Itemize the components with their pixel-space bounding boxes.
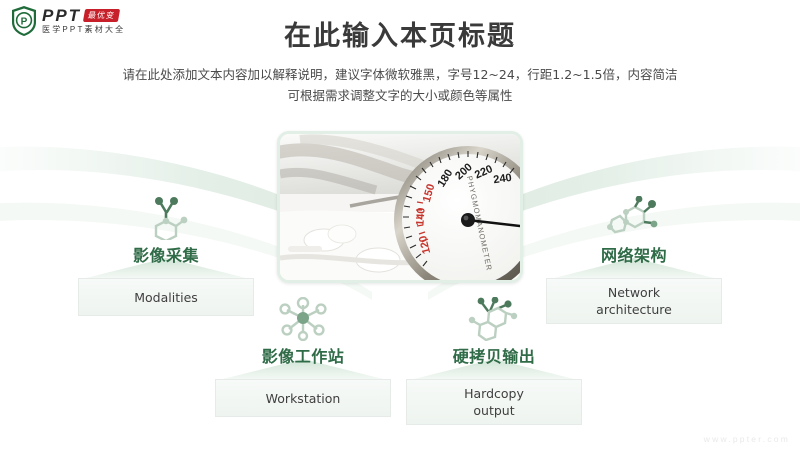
card-network-en-label-2: architecture [596,301,672,318]
card-modalities-en-label: Modalities [134,289,198,306]
slide-canvas: P PPT 最优变 医学PPT素材大全 在此输入本页标题 请在此处添加文本内容加… [0,0,800,450]
card-network-en-label: Network [596,284,672,301]
center-photo: 180 200 220 240 150 140 120 PHYGMOMA [277,131,523,283]
card-hardcopy-box[interactable]: Hardcopy output [406,379,582,425]
molecule-network-icon [606,196,662,245]
molecule-icon [143,196,189,245]
card-workstation-cn-label: 影像工作站 [215,343,391,367]
molecule-chain-icon [468,297,520,346]
hub-node-icon [277,297,329,346]
page-subtitle: 请在此处添加文本内容加以解释说明，建议字体微软雅黑，字号12~24，行距1.2~… [0,64,800,106]
card-hardcopy-cn-label: 硬拷贝输出 [406,343,582,367]
page-subtitle-line-2: 可根据需求调整文字的大小或颜色等属性 [0,85,800,106]
page-subtitle-line-1: 请在此处添加文本内容加以解释说明，建议字体微软雅黑，字号12~24，行距1.2~… [0,64,800,85]
card-hardcopy-en-label: Hardcopy [464,385,524,402]
card-network-cn-label: 网络架构 [546,242,722,266]
page-title: 在此输入本页标题 [0,14,800,53]
card-modalities-box[interactable]: Modalities [78,278,254,316]
card-modalities-cn-label: 影像采集 [78,242,254,266]
svg-text:240: 240 [493,172,513,186]
card-workstation-box[interactable]: Workstation [215,379,391,417]
card-network-box[interactable]: Network architecture [546,278,722,324]
footer-watermark: www.ppter.com [704,434,790,444]
card-workstation-en-label: Workstation [266,390,341,407]
card-hardcopy-en-label-2: output [464,402,524,419]
sphygmomanometer-image: 180 200 220 240 150 140 120 PHYGMOMA [280,134,520,280]
